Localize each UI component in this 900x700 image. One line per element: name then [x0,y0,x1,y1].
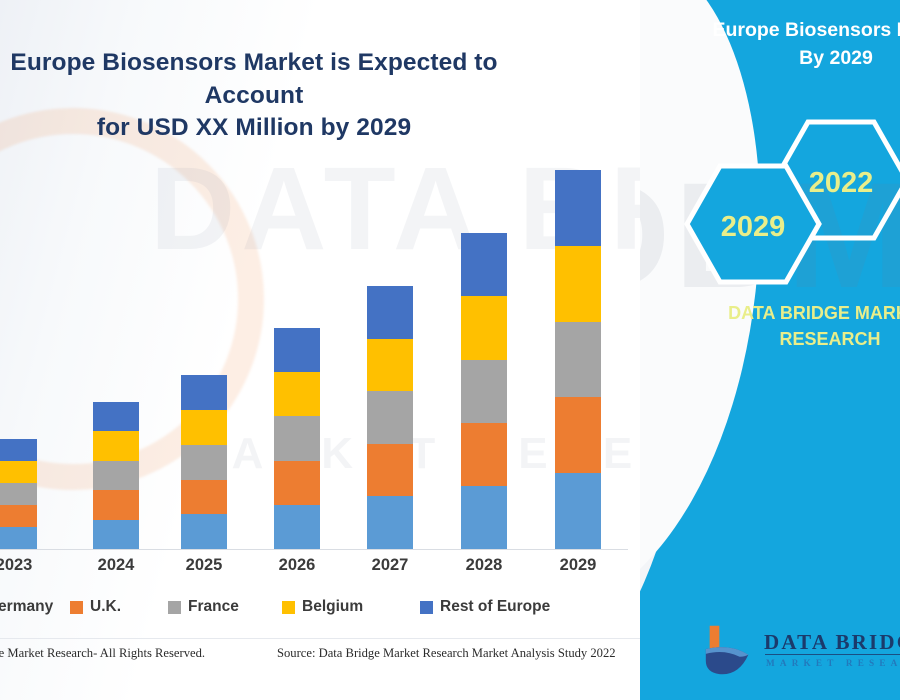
legend-swatch-belgium [282,601,295,614]
bar-2028[interactable] [461,233,507,549]
bar-2029[interactable] [555,170,601,549]
bar-segment-rest-of-europe-2029 [555,170,601,246]
x-axis-label-2029: 2029 [538,556,618,575]
chart-legend: GermanyU.K.FranceBelgiumRest of Europe [0,598,640,624]
x-axis-label-2024: 2024 [76,556,156,575]
hexagon-group: 2022 2029 [640,120,900,300]
x-axis-label-2028: 2028 [444,556,524,575]
chart-title-line-1: Europe Biosensors Market is Expected to … [0,47,544,112]
legend-label-belgium: Belgium [302,598,363,616]
bar-segment-france-2025 [181,445,227,480]
bar-segment-belgium-2025 [181,410,227,445]
bar-segment-belgium-2023 [0,461,37,483]
bar-segment-u-k--2027 [367,444,413,497]
bar-segment-u-k--2028 [461,423,507,486]
bar-segment-france-2028 [461,360,507,423]
bar-segment-rest-of-europe-2026 [274,328,320,372]
legend-swatch-rest-of-europe [420,601,433,614]
bar-segment-belgium-2026 [274,372,320,416]
infographic-root: DATA BRIDGE MARKET RESEARCH Europe Biose… [0,0,900,700]
bar-segment-belgium-2027 [367,339,413,392]
bar-segment-germany-2026 [274,505,320,549]
chart-title: Europe Biosensors Market is Expected to … [0,47,544,145]
x-axis-label-2025: 2025 [164,556,244,575]
bar-segment-rest-of-europe-2027 [367,286,413,339]
data-bridge-logo: DATA BRIDGE MARKET RESEARCH [700,618,900,684]
x-axis-label-2023: 2023 [0,556,54,575]
legend-swatch-france [168,601,181,614]
brand-name-line-1: DATA BRIDGE MARKET [728,303,900,323]
bar-segment-germany-2023 [0,527,37,549]
bar-2026[interactable] [274,328,320,549]
footer-divider [0,638,640,639]
logo-tagline: MARKET RESEARCH [766,658,900,668]
legend-item-france[interactable]: France [168,598,239,616]
bar-segment-germany-2028 [461,486,507,549]
bar-segment-germany-2025 [181,514,227,549]
bar-segment-rest-of-europe-2028 [461,233,507,296]
footer-copyright: Bridge Market Research- All Rights Reser… [0,646,205,661]
legend-item-germany[interactable]: Germany [0,598,53,616]
x-axis-label-2026: 2026 [257,556,337,575]
x-axis-label-2027: 2027 [350,556,430,575]
legend-label-germany: Germany [0,598,53,616]
bar-segment-belgium-2024 [93,431,139,460]
legend-label-rest-of-europe: Rest of Europe [440,598,550,616]
legend-item-belgium[interactable]: Belgium [282,598,363,616]
bar-2027[interactable] [367,286,413,549]
bar-segment-france-2023 [0,483,37,505]
bar-segment-germany-2029 [555,473,601,549]
chart-title-line-2: for USD XX Million by 2029 [0,112,544,145]
stacked-bar-plot [0,150,640,550]
hexagon-front: 2029 [682,158,832,290]
logo-divider [765,654,900,655]
bar-segment-u-k--2025 [181,480,227,515]
bar-segment-belgium-2029 [555,246,601,322]
x-axis-labels: 2023202420252026202720282029 [0,556,640,582]
legend-label-france: France [188,598,239,616]
bar-segment-germany-2027 [367,496,413,549]
bar-2024[interactable] [93,402,139,549]
bar-2023[interactable] [0,438,37,549]
bar-segment-germany-2024 [93,520,139,549]
legend-label-u-k-: U.K. [90,598,121,616]
svg-text:2029: 2029 [721,211,786,243]
footer-source: Source: Data Bridge Market Research Mark… [277,646,616,661]
legend-swatch-u-k- [70,601,83,614]
brand-pane-title: Europe Biosensors Market By 2029 [686,16,900,73]
legend-item-rest-of-europe[interactable]: Rest of Europe [420,598,550,616]
brand-pane-name: DATA BRIDGE MARKET RESEARCH [680,300,900,352]
brand-title-line-1: Europe Biosensors Market [712,19,900,41]
bar-segment-u-k--2026 [274,461,320,505]
chart-pane: DATA BRIDGE MARKET RESEARCH Europe Biose… [0,0,660,700]
brand-name-line-2: RESEARCH [680,326,900,352]
bar-segment-u-k--2024 [93,490,139,519]
bar-segment-france-2026 [274,416,320,460]
bar-segment-rest-of-europe-2024 [93,402,139,431]
bar-segment-u-k--2023 [0,505,37,527]
bar-segment-belgium-2028 [461,296,507,359]
bar-segment-u-k--2029 [555,397,601,473]
bar-segment-france-2027 [367,391,413,444]
x-axis-line [0,549,628,550]
brand-title-line-2: By 2029 [686,44,900,72]
bar-segment-france-2029 [555,322,601,398]
logo-mark-icon [700,620,758,678]
bar-segment-france-2024 [93,461,139,490]
logo-name: DATA BRIDGE [764,630,900,655]
bar-segment-rest-of-europe-2025 [181,375,227,410]
legend-item-u-k-[interactable]: U.K. [70,598,121,616]
brand-pane: DBMR Europe Biosensors Market By 2029 20… [640,0,900,700]
bar-2025[interactable] [181,375,227,549]
bar-segment-rest-of-europe-2023 [0,439,37,461]
